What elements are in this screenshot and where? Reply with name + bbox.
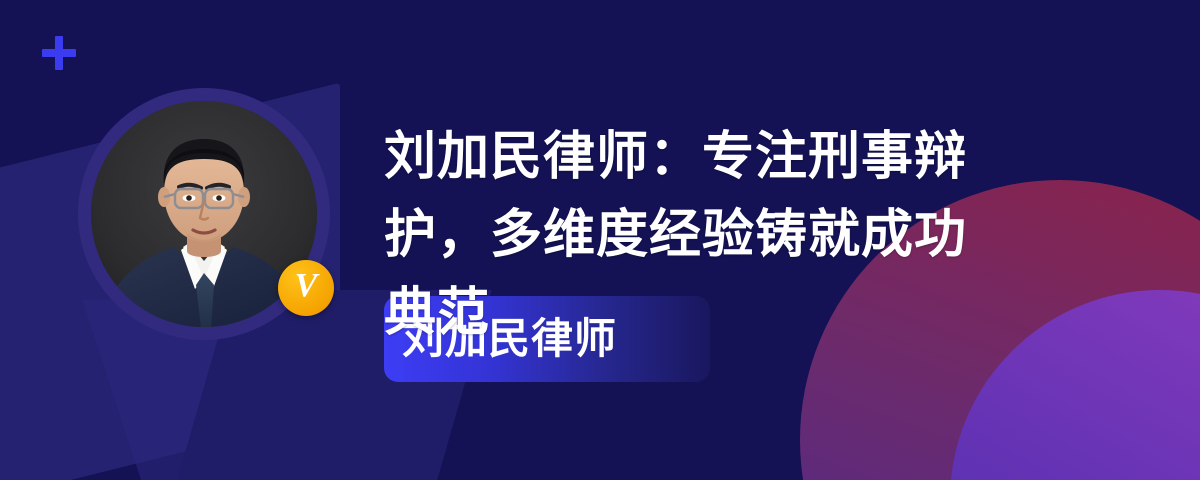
verified-badge-glyph: V: [295, 269, 318, 303]
plus-icon: [42, 36, 76, 70]
promo-banner: V 刘加民律师 刘加民律师：专注刑事辩 护，多维度经验铸就成功 典范: [0, 0, 1200, 480]
verified-badge-icon: V: [278, 260, 334, 316]
headline-block: 刘加民律师：专注刑事辩 护，多维度经验铸就成功 典范: [384, 118, 1084, 352]
headline-text: 刘加民律师：专注刑事辩 护，多维度经验铸就成功 典范: [384, 118, 1084, 352]
avatar: V: [78, 88, 330, 340]
